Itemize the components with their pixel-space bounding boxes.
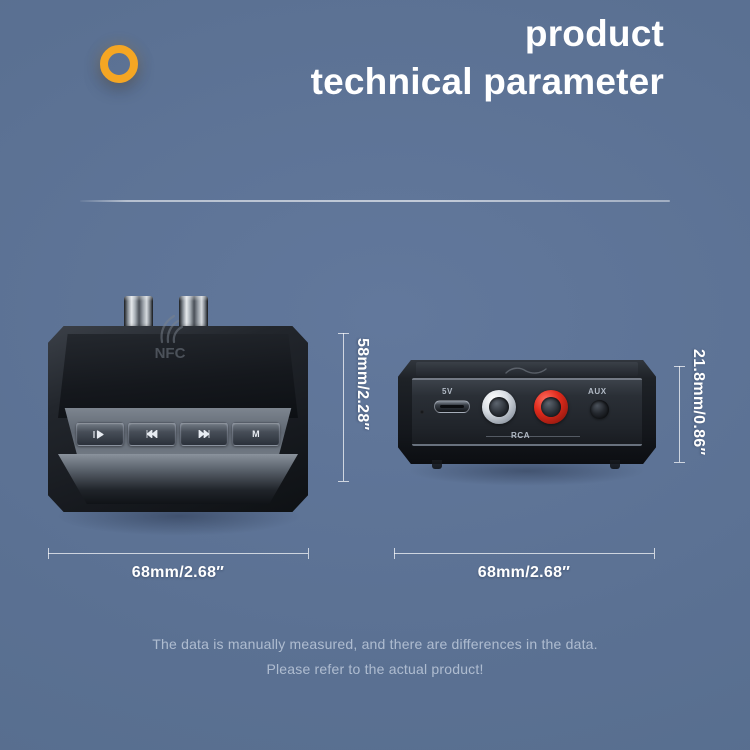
dim-cap-top-view-height-upper <box>338 333 349 334</box>
dim-line-top-view-width <box>48 553 308 554</box>
dim-cap-rear-view-height-upper <box>674 366 685 367</box>
dim-label-top-view-width: 68mm/2.68″ <box>0 564 356 582</box>
device-foot-right <box>610 460 620 469</box>
dim-cap-top-view-width-left <box>48 548 49 559</box>
title-line-technical-parameter: technical parameter <box>311 60 664 104</box>
mode-button[interactable]: M <box>232 422 280 446</box>
disclaimer-note: The data is manually measured, and there… <box>0 632 750 681</box>
dim-cap-rear-view-width-left <box>394 548 395 559</box>
disclaimer-line-2: Please refer to the actual product! <box>0 657 750 682</box>
usb-c-power-port[interactable] <box>434 400 470 413</box>
header-divider <box>80 200 670 202</box>
dim-cap-rear-view-height-lower <box>674 462 685 463</box>
rca-jack-white[interactable] <box>482 390 516 424</box>
nfc-icon: NFC <box>144 310 196 364</box>
next-track-button[interactable] <box>180 422 228 446</box>
usb-port-label: 5V <box>442 387 453 396</box>
rca-jack-red[interactable] <box>534 390 568 424</box>
dim-line-rear-view-width <box>394 553 654 554</box>
dim-line-rear-view-height <box>679 366 680 462</box>
disclaimer-line-1: The data is manually measured, and there… <box>0 632 750 657</box>
rca-group-underline <box>486 436 580 437</box>
aux-jack[interactable] <box>590 400 609 419</box>
dim-label-rear-view-height: 21.8mm/0.86″ <box>689 349 707 455</box>
dim-line-top-view-height <box>343 333 344 481</box>
rca-group-label: RCA <box>511 431 530 440</box>
nfc-text: NFC <box>155 345 186 362</box>
dim-label-top-view-height: 58mm/2.28″ <box>353 338 371 431</box>
button-row: M <box>76 422 280 446</box>
dim-cap-top-view-width-right <box>308 548 309 559</box>
device-foot-left <box>432 460 442 469</box>
title-line-product: product <box>311 12 664 56</box>
page-title: product technical parameter <box>311 12 664 103</box>
play-pause-button[interactable] <box>76 422 124 446</box>
device-rear-view: 5V RCA AUX <box>398 360 656 485</box>
orange-ring-logo <box>100 45 138 83</box>
dim-label-rear-view-width: 68mm/2.68″ <box>394 564 654 582</box>
device-top-bottom-bevel <box>58 454 298 504</box>
status-led-indicator <box>420 410 424 414</box>
dim-cap-rear-view-width-right <box>654 548 655 559</box>
device-top-view: NFC M <box>48 296 308 536</box>
previous-track-button[interactable] <box>128 422 176 446</box>
dim-cap-top-view-height-lower <box>338 481 349 482</box>
brand-logo-embossed <box>504 363 548 374</box>
page-background: product technical parameter NFC <box>0 0 750 750</box>
aux-port-label: AUX <box>588 387 607 396</box>
